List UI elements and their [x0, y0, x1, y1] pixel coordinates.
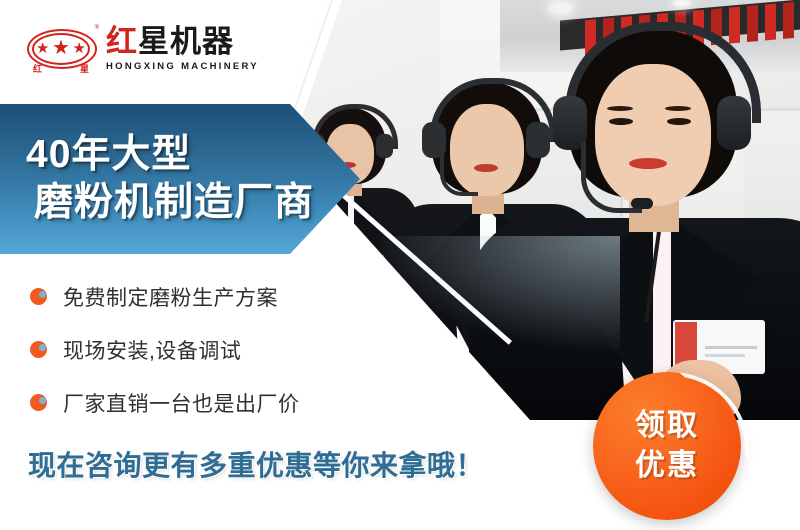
headline-line-2: 磨粉机制造厂商: [34, 179, 360, 227]
cta-line-2: 优惠: [635, 446, 699, 486]
star-icon: ★: [36, 41, 49, 56]
star-icon: ★: [73, 41, 86, 56]
cta-line-1: 领取: [635, 406, 699, 446]
ceiling-light-icon: [550, 4, 572, 12]
microphone-icon: [631, 198, 653, 209]
promo-banner: ★ ★ ★ ® 红 星 红星机器 HONGXING MACHINERY 40年大…: [0, 0, 800, 530]
list-item: 厂家直销一台也是出厂价: [30, 376, 360, 429]
call-center-photo: [290, 0, 800, 420]
brand-name-red: 红: [106, 24, 138, 59]
ceiling-light-icon: [674, 0, 690, 6]
list-item-label: 免费制定磨粉生产方案: [63, 282, 278, 312]
bullet-dot-icon: [30, 341, 47, 358]
star-icon: ★: [52, 38, 70, 58]
emblem-sub-right: 星: [80, 62, 89, 75]
star-emblem-icon: ★ ★ ★ ® 红 星: [27, 21, 97, 77]
company-logo[interactable]: ★ ★ ★ ® 红 星 红星机器 HONGXING MACHINERY: [27, 18, 259, 80]
logo-wordmark: 红星机器 HONGXING MACHINERY: [106, 26, 259, 72]
list-item-label: 现场安装,设备调试: [63, 335, 241, 365]
list-item-label: 厂家直销一台也是出厂价: [63, 388, 300, 418]
brand-name-rest: 星机器: [138, 24, 234, 59]
registered-mark: ®: [95, 25, 99, 31]
headline-line-1: 40年大型: [26, 131, 360, 179]
brand-name-en: HONGXING MACHINERY: [106, 61, 259, 72]
agent-foreground: [505, 30, 800, 420]
claim-offer-button[interactable]: 领取 优惠: [593, 372, 741, 520]
bullet-dot-icon: [30, 288, 47, 305]
feature-list: 免费制定磨粉生产方案 现场安装,设备调试 厂家直销一台也是出厂价: [30, 270, 360, 429]
id-badge: [356, 296, 392, 318]
three-stars-icon: ★ ★ ★: [36, 37, 86, 59]
list-item: 免费制定磨粉生产方案: [30, 270, 360, 323]
emblem-sub-left: 红: [33, 62, 42, 75]
bullet-dot-icon: [30, 394, 47, 411]
promo-slogan: 现在咨询更有多重优惠等你来拿哦！: [28, 444, 484, 484]
list-item: 现场安装,设备调试: [30, 323, 360, 376]
headline-banner: 40年大型 磨粉机制造厂商: [0, 104, 360, 254]
